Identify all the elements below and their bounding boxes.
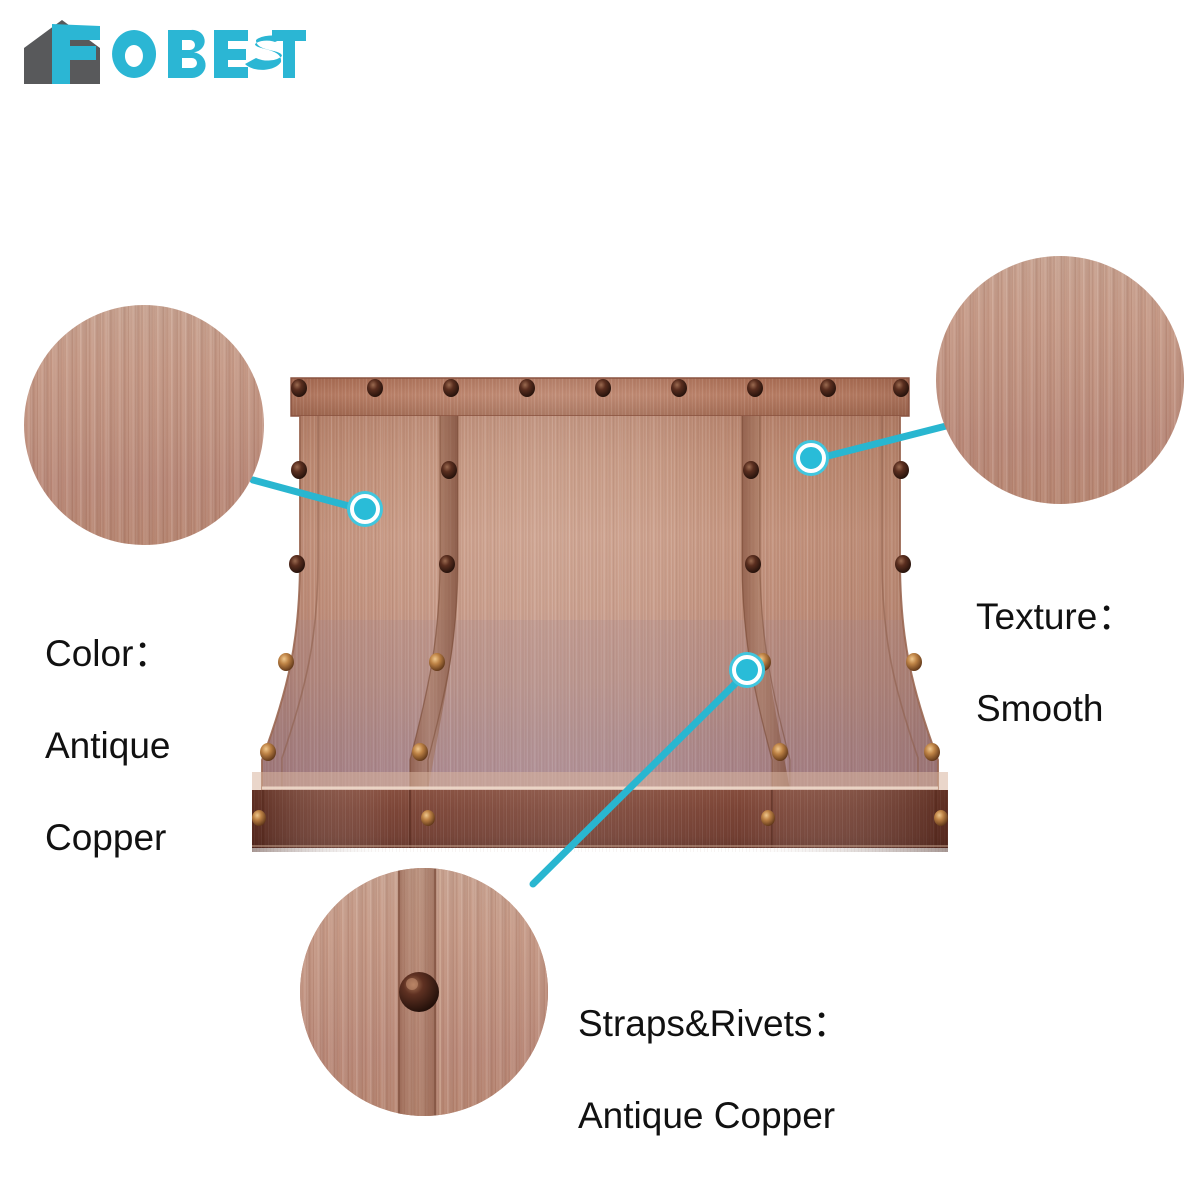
callout-dot-texture[interactable]: [796, 443, 826, 473]
callout-title-color: Color：: [45, 633, 170, 674]
infographic-canvas: Color： Antique Copper Texture： Smooth St…: [0, 0, 1200, 1200]
left-edge-rivets: [260, 461, 307, 761]
bottom-band-rivets: [252, 810, 948, 826]
right-edge-rivets: [893, 461, 940, 761]
hood-body: [250, 410, 950, 800]
house-logo-icon: [16, 18, 306, 90]
callout-dot-color[interactable]: [350, 494, 380, 524]
callout-value-texture-line1: Smooth: [976, 686, 1134, 732]
callout-value-color-line2: Copper: [45, 815, 171, 861]
callout-value-color-line1: Antique: [45, 723, 171, 769]
zoom-circle-texture: [936, 256, 1184, 504]
hood-strap-right: [742, 416, 790, 790]
callout-title-straps-rivets: Straps&Rivets：: [578, 1003, 849, 1044]
hood-strap-left: [410, 416, 458, 790]
right-strap-rivets: [743, 461, 788, 761]
callout-label-straps-rivets: Straps&Rivets： Antique Copper: [578, 955, 849, 1185]
callout-dot-straps-rivets[interactable]: [732, 655, 762, 685]
zoom-circle-color: [24, 305, 264, 545]
callout-title-texture: Texture：: [976, 596, 1134, 637]
top-band-rivets: [291, 379, 909, 397]
callout-label-color: Color： Antique Copper: [45, 585, 171, 907]
callout-line-color: [253, 480, 360, 509]
left-strap-rivets: [412, 461, 457, 761]
callout-line-texture: [816, 425, 950, 459]
callout-value-straps-rivets-line1: Antique Copper: [578, 1093, 849, 1139]
strap-rivet-detail: [300, 868, 548, 1116]
brand-logo: [16, 18, 306, 90]
callout-line-straps-rivets: [533, 674, 745, 884]
callout-lines: [253, 425, 950, 884]
hood-bottom-band: [252, 790, 948, 852]
callout-label-texture: Texture： Smooth: [976, 548, 1134, 778]
hood-top-band: [291, 378, 909, 416]
zoom-circle-straps-rivets: [300, 868, 548, 1116]
